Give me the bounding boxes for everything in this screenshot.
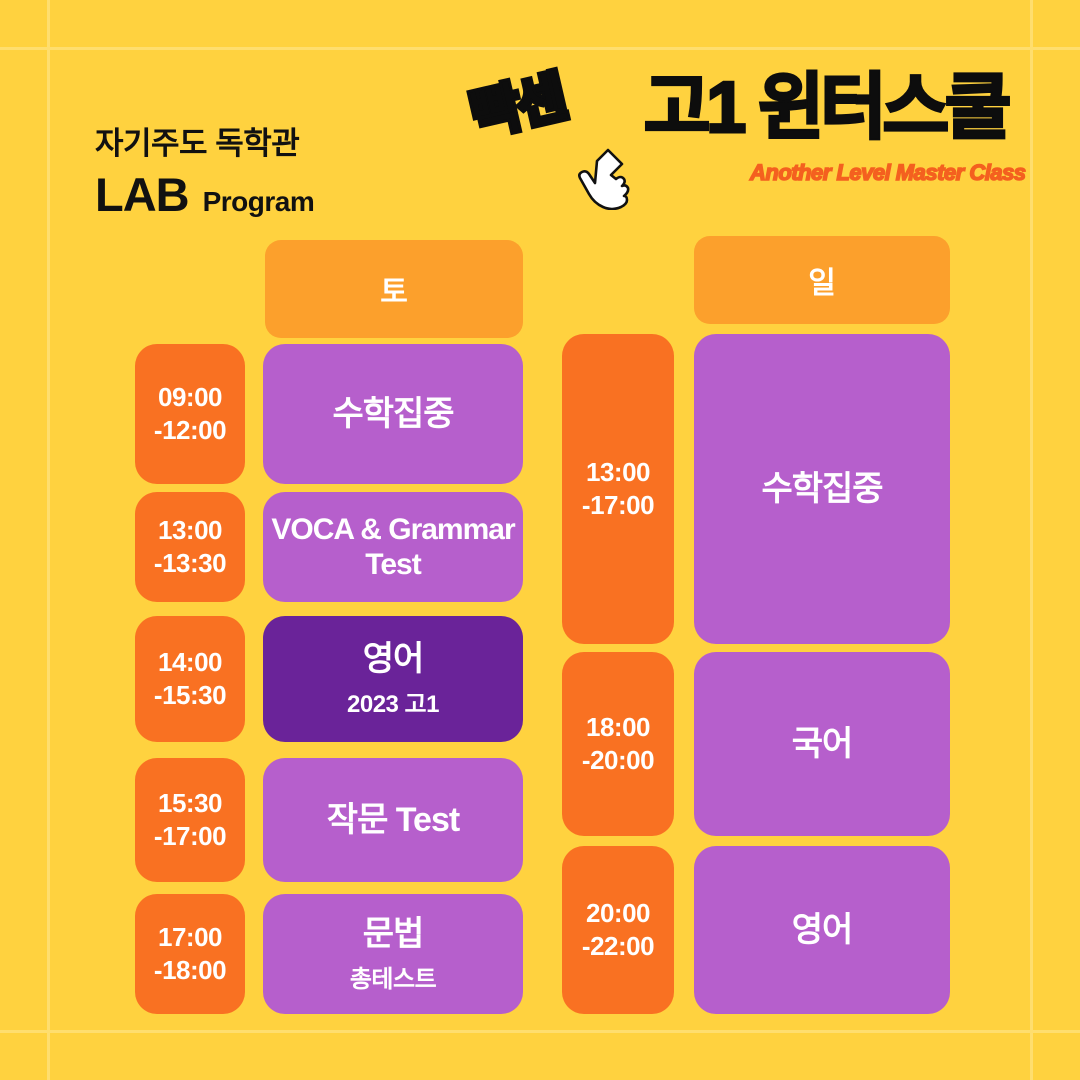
class-card-title: 작문 Test: [327, 800, 459, 840]
class-card: 국어: [694, 652, 950, 836]
day-header-sat: 토: [265, 240, 523, 338]
time-slot-line: -18:00: [154, 954, 226, 987]
time-slot-line: 18:00: [586, 711, 650, 744]
class-card: 영어: [694, 846, 950, 1014]
time-slot-line: 13:00: [158, 514, 222, 547]
time-slot-line: 14:00: [158, 646, 222, 679]
day-header-sun: 일: [694, 236, 950, 324]
class-card-title: 영어: [363, 639, 424, 679]
class-card: 영어2023 고1: [263, 616, 523, 742]
time-slot-line: 15:30: [158, 787, 222, 820]
class-card-title: 수학집중: [761, 469, 882, 509]
time-slot-line: 20:00: [586, 897, 650, 930]
class-card-subtitle: 2023 고1: [347, 684, 439, 719]
class-card: VOCA & Grammar Test: [263, 492, 523, 602]
time-slot: 14:00-15:30: [135, 616, 245, 742]
day-header-label: 일: [808, 258, 836, 302]
class-card: 문법총테스트: [263, 894, 523, 1014]
class-card-subtitle: 총테스트: [350, 959, 436, 994]
schedule-grid: 토09:00-12:00수학집중13:00-13:30VOCA & Gramma…: [0, 0, 1080, 1080]
class-card-title: 영어: [792, 910, 853, 950]
time-slot-line: -13:30: [154, 547, 226, 580]
time-slot: 15:30-17:00: [135, 758, 245, 882]
class-card-title: 국어: [792, 724, 853, 764]
time-slot: 09:00-12:00: [135, 344, 245, 484]
time-slot: 18:00-20:00: [562, 652, 674, 836]
day-header-label: 토: [380, 267, 408, 311]
time-slot: 20:00-22:00: [562, 846, 674, 1014]
class-card-title: 수학집중: [332, 394, 453, 434]
time-slot-line: -20:00: [582, 744, 654, 777]
time-slot-line: 17:00: [158, 921, 222, 954]
class-card-title: 문법: [363, 914, 424, 954]
class-card-title: VOCA & Grammar Test: [271, 512, 515, 583]
time-slot-line: -17:00: [154, 820, 226, 853]
time-slot: 13:00-13:30: [135, 492, 245, 602]
time-slot-line: -15:30: [154, 679, 226, 712]
time-slot: 17:00-18:00: [135, 894, 245, 1014]
class-card: 작문 Test: [263, 758, 523, 882]
class-card: 수학집중: [263, 344, 523, 484]
time-slot: 13:00-17:00: [562, 334, 674, 644]
time-slot-line: 09:00: [158, 381, 222, 414]
class-card: 수학집중: [694, 334, 950, 644]
time-slot-line: -12:00: [154, 414, 226, 447]
time-slot-line: -17:00: [582, 489, 654, 522]
time-slot-line: -22:00: [582, 930, 654, 963]
poster-canvas: 자기주도 독학관 LAB Program 빡센 고1 윈터스쿨 Another …: [0, 0, 1080, 1080]
time-slot-line: 13:00: [586, 456, 650, 489]
